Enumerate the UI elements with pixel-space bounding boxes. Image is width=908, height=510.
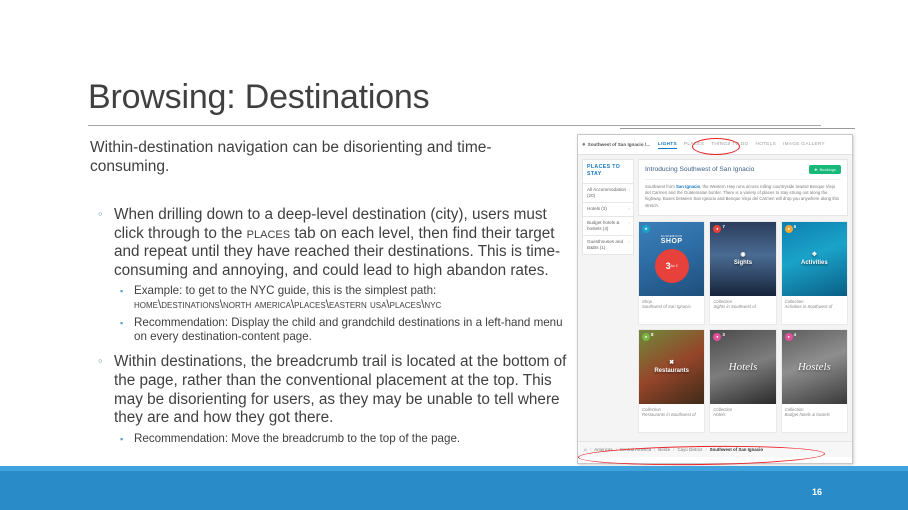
- card-overlay-label: Restaurants: [654, 368, 689, 374]
- sidebar-filter-label: All Accommodation (20): [587, 187, 626, 198]
- card-badge-icon: ●: [642, 333, 650, 341]
- card-badge-count: 4: [794, 332, 797, 337]
- places-to-stay-sidebar: PLACES TO STAY › All Accommodation (20) …: [582, 159, 634, 437]
- bullet-list: When drilling down to a deep-level desti…: [96, 206, 574, 446]
- chevron-right-icon: ›: [629, 206, 630, 212]
- card-overlay-label: Hostels: [798, 361, 831, 373]
- card-image: ● 7 ◉ Sights: [710, 222, 775, 296]
- intro-header-row: Introducing Southwest of San Ignacio ✚ B…: [645, 165, 841, 174]
- card-caption: Collection Restaurants in Southwest of: [639, 404, 704, 432]
- card-caption-kind: Collection: [713, 407, 732, 412]
- card-caption: Collection Activities in Southwest of: [782, 296, 847, 324]
- promo-small: for 2: [671, 264, 678, 268]
- sub-1-path: Home\Destinations\North America\Places\E…: [134, 298, 441, 311]
- nav-tab-lights[interactable]: LIGHTS: [658, 141, 677, 149]
- card-caption-text: Budget hotels & hostels: [785, 412, 830, 417]
- card-caption-text: Restaurants in Southwest of: [642, 412, 696, 417]
- breadcrumb-separator: /: [616, 447, 617, 452]
- card-image: ● 5 ✥ Activities: [782, 222, 847, 296]
- card-restaurants[interactable]: ● 8 ✖ Restaurants Collection Restaurants…: [638, 329, 705, 433]
- intro-body-before: Southwest from: [645, 184, 676, 189]
- card-badge-count: 5: [794, 224, 797, 229]
- sidebar-filter-hotels[interactable]: › Hotels (3): [582, 203, 634, 217]
- nav-tab-things-to-do[interactable]: THINGS TO DO: [711, 141, 748, 148]
- card-image: ● 4 Hostels: [782, 330, 847, 404]
- breadcrumb-item-cayo-district[interactable]: Cayo District: [677, 447, 702, 452]
- shop-word-label: SHOP: [661, 238, 683, 246]
- breadcrumb-item-belize[interactable]: Belize: [658, 447, 670, 452]
- sidebar-filter-budget-hotels[interactable]: › Budget hotels & hostels (4): [582, 217, 634, 236]
- card-badge-icon: ●: [785, 333, 793, 341]
- sidebar-filter-label: Guesthouses and B&Bs (1): [587, 239, 623, 250]
- card-overlay: ✥ Activities: [801, 251, 828, 266]
- collection-card-grid: ★ GUIDEBOOK SHOP 3for 2 Shop Southwest o…: [638, 221, 848, 433]
- card-caption-kind: Shop: [642, 299, 652, 304]
- breadcrumb-item-americas[interactable]: Americas: [594, 447, 612, 452]
- card-badge-count: 3: [722, 332, 725, 337]
- bullet-item-1-sub-2: Recommendation: Display the child and gr…: [114, 316, 574, 344]
- breadcrumb-current: Southwest of San Ignacio: [710, 447, 763, 452]
- nav-tab-image-gallery[interactable]: IMAGE GALLERY: [783, 141, 825, 148]
- card-image: ★ GUIDEBOOK SHOP 3for 2: [639, 222, 704, 296]
- card-caption-text: Hotels: [713, 412, 725, 417]
- card-badge-icon: ★: [642, 225, 650, 233]
- card-badge-count: 8: [651, 332, 654, 337]
- site-body: PLACES TO STAY › All Accommodation (20) …: [578, 155, 852, 441]
- chevron-right-icon: ›: [629, 187, 630, 193]
- plus-icon: ✚: [814, 168, 817, 172]
- sidebar-filter-label: Hotels (3): [587, 206, 607, 211]
- title-divider: [88, 125, 821, 126]
- card-image: ● 8 ✖ Restaurants: [639, 330, 704, 404]
- card-image: ● 3 Hotels: [710, 330, 775, 404]
- card-badge-icon: ●: [713, 225, 721, 233]
- card-caption-text: Activities in Southwest of: [785, 304, 833, 309]
- breadcrumb-separator: /: [673, 447, 674, 452]
- card-caption: Collection Budget hotels & hostels: [782, 404, 847, 432]
- sidebar-filter-guesthouses[interactable]: › Guesthouses and B&Bs (1): [582, 236, 634, 255]
- activity-icon: ✥: [801, 251, 828, 258]
- card-hotels[interactable]: ● 3 Hotels Collection Hotels: [709, 329, 776, 433]
- screenshot-top-rule: [620, 128, 855, 129]
- sidebar-filter-label: Budget hotels & hostels (4): [587, 220, 619, 231]
- card-caption-kind: Collection: [642, 407, 661, 412]
- cutlery-icon: ✖: [654, 359, 689, 366]
- breadcrumb-separator: /: [705, 447, 706, 452]
- lead-paragraph: Within-destination navigation can be dis…: [90, 138, 560, 176]
- card-badge-icon: ●: [713, 333, 721, 341]
- embedded-screenshot: ● Southwest of San Ignacio /... LIGHTS P…: [577, 134, 853, 464]
- nav-tab-hotels[interactable]: HOTELS: [756, 141, 777, 148]
- camera-icon: ◉: [734, 251, 752, 258]
- chevron-right-icon: ›: [629, 239, 630, 245]
- card-caption-kind: Collection: [785, 299, 804, 304]
- card-overlay-label: Activities: [801, 260, 828, 266]
- bullet-1-places-token: Places: [247, 225, 290, 242]
- breadcrumb-separator: /: [654, 447, 655, 452]
- sub-1-line-1: Example: to get to the NYC guide, this i…: [134, 284, 436, 297]
- breadcrumb: ⌂ / Americas / Central America / Belize …: [578, 441, 852, 457]
- card-caption: Collection Hotels: [710, 404, 775, 432]
- site-nav-bar: ● Southwest of San Ignacio /... LIGHTS P…: [578, 135, 852, 155]
- sidebar-heading: PLACES TO STAY: [582, 159, 634, 184]
- card-overlay-label: Sights: [734, 260, 752, 266]
- breadcrumb-separator: /: [590, 447, 591, 452]
- card-overlay-label: Hotels: [729, 361, 758, 373]
- nav-pin-icon: ●: [582, 142, 586, 148]
- card-caption: Shop Southwest of San Ignacio: [639, 296, 704, 324]
- card-caption-kind: Collection: [785, 407, 804, 412]
- home-icon[interactable]: ⌂: [584, 447, 587, 453]
- card-badge-icon: ●: [785, 225, 793, 233]
- card-caption-text: Southwest of San Ignacio: [642, 304, 691, 309]
- bullet-item-2-sub-1: Recommendation: Move the breadcrumb to t…: [114, 432, 574, 446]
- bullet-item-1-sub-1: Example: to get to the NYC guide, this i…: [114, 284, 574, 312]
- card-activities[interactable]: ● 5 ✥ Activities Collection Activities i…: [781, 221, 848, 325]
- bullet-item-1: When drilling down to a deep-level desti…: [96, 206, 574, 280]
- shop-discount-badge: 3for 2: [655, 249, 689, 283]
- breadcrumb-item-central-america[interactable]: Central America: [620, 447, 651, 452]
- card-sights[interactable]: ● 7 ◉ Sights Collection Sights in Southw…: [709, 221, 776, 325]
- chevron-right-icon: ›: [629, 220, 630, 226]
- intro-body-text: Southwest from San Ignacio, the Western …: [645, 179, 841, 209]
- sidebar-filter-all-accommodation[interactable]: › All Accommodation (20): [582, 184, 634, 203]
- bookings-button[interactable]: ✚ Bookings: [809, 165, 841, 174]
- page-number: 16: [812, 487, 822, 497]
- card-hostels[interactable]: ● 4 Hostels Collection Budget hotels & h…: [781, 329, 848, 433]
- card-caption-kind: Collection: [713, 299, 732, 304]
- page-title: Browsing: Destinations: [88, 78, 429, 117]
- intro-title: Introducing Southwest of San Ignacio: [645, 165, 754, 174]
- nav-tabs: LIGHTS PLACES THINGS TO DO HOTELS IMAGE …: [658, 141, 825, 149]
- card-caption: Collection Sights in Southwest of: [710, 296, 775, 324]
- site-main-column: Introducing Southwest of San Ignacio ✚ B…: [638, 159, 848, 437]
- san-ignacio-link[interactable]: San Ignacio: [676, 184, 700, 189]
- card-caption-text: Sights in Southwest of: [713, 304, 756, 309]
- footer-band: [0, 471, 908, 510]
- bullet-item-2: Within destinations, the breadcrumb trai…: [96, 353, 574, 427]
- card-overlay: ◉ Sights: [734, 251, 752, 266]
- card-badge-count: 7: [722, 224, 725, 229]
- nav-crumb-label: Southwest of San Ignacio /...: [588, 142, 650, 147]
- bookings-button-label: Bookings: [820, 168, 836, 172]
- intro-card: Introducing Southwest of San Ignacio ✚ B…: [638, 159, 848, 216]
- card-overlay: ✖ Restaurants: [654, 359, 689, 374]
- card-shop[interactable]: ★ GUIDEBOOK SHOP 3for 2 Shop Southwest o…: [638, 221, 705, 325]
- nav-tab-places[interactable]: PLACES: [684, 141, 704, 148]
- shop-promo: GUIDEBOOK SHOP 3for 2: [639, 222, 704, 296]
